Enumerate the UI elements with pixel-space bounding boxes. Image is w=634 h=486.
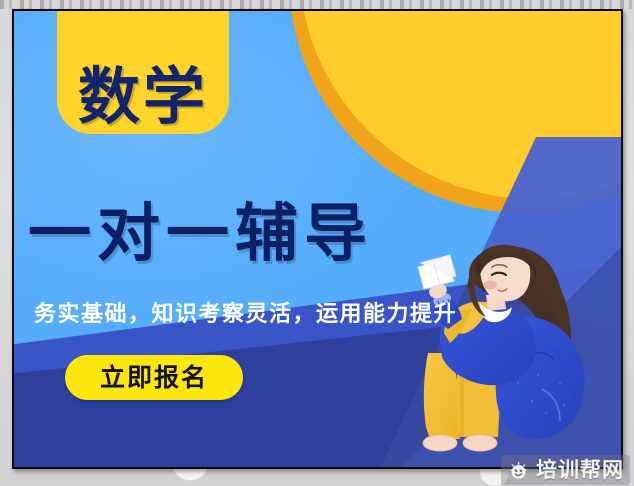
signup-button-label: 立即报名 — [100, 365, 208, 390]
banner-root: 数学 — [0, 0, 634, 486]
sun-smiley-icon — [507, 459, 530, 482]
signup-button[interactable]: 立即报名 — [65, 355, 243, 400]
subject-badge: 数学 — [57, 9, 229, 134]
watermark-text: 培训帮网 — [536, 460, 624, 481]
subtitle-text: 务实基础，知识考察灵活，运用能力提升 — [34, 304, 504, 326]
watermark: 培训帮网 — [501, 455, 630, 485]
paper-texture-strip — [0, 0, 634, 9]
promo-poster[interactable]: 数学 — [12, 9, 623, 469]
subject-badge-label: 数学 — [78, 66, 208, 128]
girl-reading-book-illustration — [414, 243, 623, 469]
page-title: 一对一辅导 — [28, 202, 498, 265]
